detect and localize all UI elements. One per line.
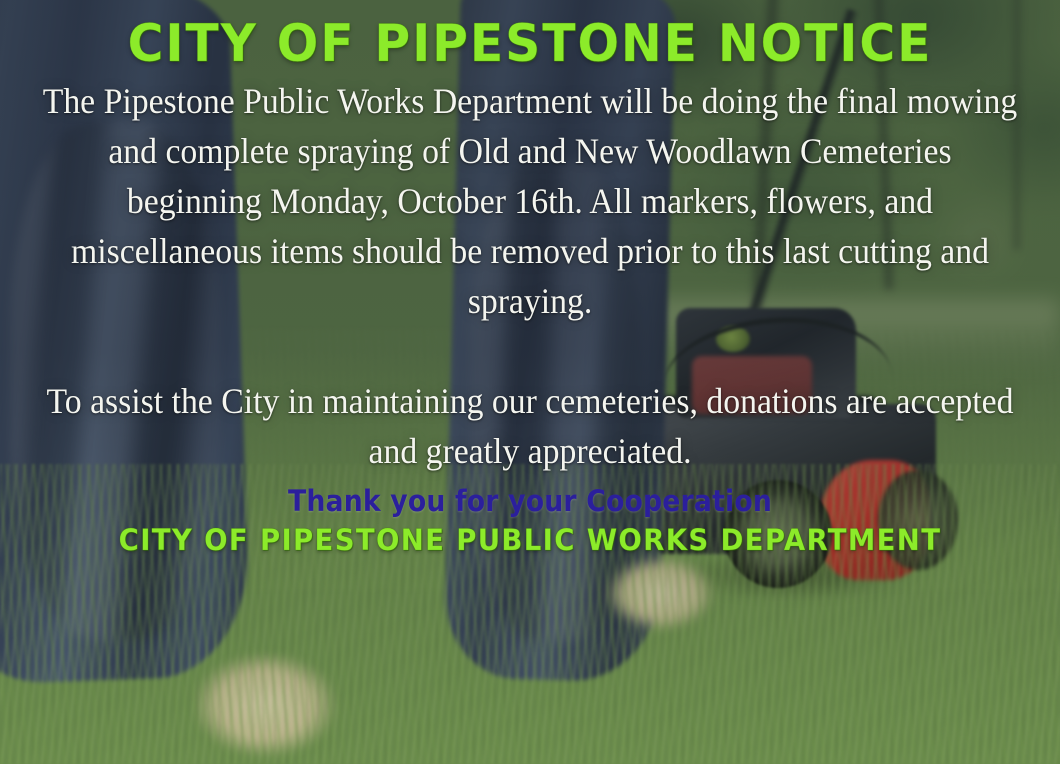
notice-title: CITY OF PIPESTONE NOTICE [32, 0, 1028, 70]
notice-poster: CITY OF PIPESTONE NOTICE The Pipestone P… [0, 0, 1060, 764]
notice-content: CITY OF PIPESTONE NOTICE The Pipestone P… [0, 0, 1060, 764]
notice-paragraph-2: To assist the City in maintaining our ce… [40, 376, 1020, 476]
notice-paragraph-1: The Pipestone Public Works Department wi… [40, 76, 1020, 326]
department-signature-line: CITY OF PIPESTONE PUBLIC WORKS DEPARTMEN… [27, 522, 1034, 558]
paragraph-spacer [40, 326, 1020, 376]
thank-you-line: Thank you for your Cooperation [42, 484, 1017, 518]
notice-body: The Pipestone Public Works Department wi… [27, 76, 1034, 476]
